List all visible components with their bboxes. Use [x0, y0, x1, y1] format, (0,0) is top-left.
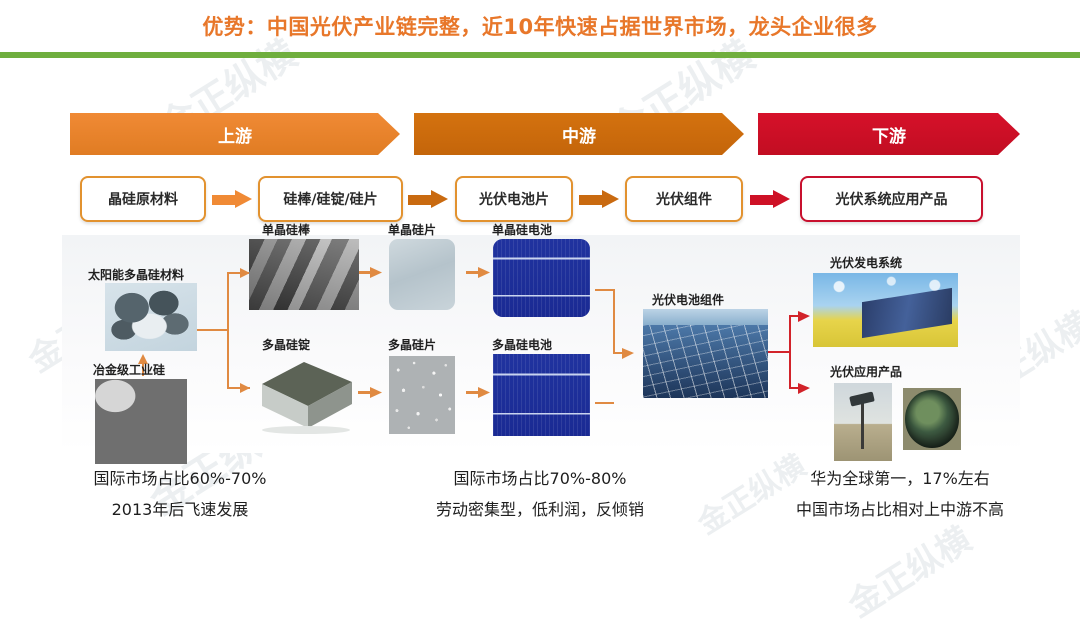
note-line: 国际市场占比60%-70%	[0, 463, 360, 494]
stage-banner-downstream: 下游	[758, 113, 1020, 155]
diagram-image-mono-ingot	[249, 239, 359, 310]
stage-banner-midstream: 中游	[414, 113, 744, 155]
diagram-label-pv-power-system: 光伏发电系统	[830, 254, 902, 271]
diagram-label-mono-cell: 单晶硅电池	[492, 221, 552, 238]
diagram-image-pv-power-system	[813, 273, 958, 347]
diagram-label-poly-cell: 多晶硅电池	[492, 336, 552, 353]
note-line: 华为全球第一，17%左右	[720, 463, 1080, 494]
diagram-image-poly-cell	[493, 354, 590, 436]
process-box-raw-material: 晶硅原材料	[80, 176, 206, 222]
process-box-cell: 光伏电池片	[455, 176, 573, 222]
diagram-image-pv-module	[643, 309, 768, 398]
diagram-label-poly-ingot: 多晶硅锭	[262, 336, 310, 353]
diagram-label-pv-application-product: 光伏应用产品	[830, 363, 902, 380]
stage-banner-label: 下游	[872, 122, 906, 147]
notes-column-midstream: 国际市场占比70%-80% 劳动密集型，低利润，反倾销	[360, 463, 720, 525]
process-box-module: 光伏组件	[625, 176, 743, 222]
diagram-image-mono-cell	[493, 239, 590, 317]
notes-column-downstream: 华为全球第一，17%左右 中国市场占比相对上中游不高	[720, 463, 1080, 525]
note-line: 国际市场占比70%-80%	[360, 463, 720, 494]
arrow-right-icon	[750, 190, 790, 209]
diagram-label-polysilicon-material: 太阳能多晶硅材料	[88, 266, 184, 283]
slide-body: 上游 中游 下游 晶硅原材料 硅棒/硅锭/硅片 光伏电池片 光伏组件 光伏系统应…	[0, 58, 1080, 607]
diagram-image-mono-wafer	[389, 239, 455, 310]
process-box-ingot-wafer: 硅棒/硅锭/硅片	[258, 176, 403, 222]
notes-column-upstream: 国际市场占比60%-70% 2013年后飞速发展	[0, 463, 360, 525]
stage-banner-label: 上游	[218, 122, 252, 147]
stage-banner-upstream: 上游	[70, 113, 400, 155]
notes-row: 国际市场占比60%-70% 2013年后飞速发展 国际市场占比70%-80% 劳…	[0, 463, 1080, 525]
diagram-image-polysilicon-material	[105, 283, 197, 351]
arrow-right-icon	[408, 190, 448, 209]
stage-banner-label: 中游	[562, 122, 596, 147]
diagram-image-pv-product	[903, 388, 961, 450]
arrow-right-icon	[212, 190, 252, 209]
diagram-image-poly-wafer	[389, 356, 455, 434]
diagram-image-poly-ingot	[248, 354, 360, 434]
note-line: 劳动密集型，低利润，反倾销	[360, 494, 720, 525]
diagram-image-street-lamp	[834, 383, 892, 461]
arrow-right-icon	[579, 190, 619, 209]
note-line: 2013年后飞速发展	[0, 494, 360, 525]
note-line: 中国市场占比相对上中游不高	[720, 494, 1080, 525]
page-title: 优势：中国光伏产业链完整，近10年快速占据世界市场，龙头企业很多	[202, 11, 877, 41]
diagram-label-pv-module: 光伏电池组件	[652, 291, 724, 308]
process-box-system-product: 光伏系统应用产品	[800, 176, 983, 222]
diagram-label-metallurgical-silicon: 冶金级工业硅	[93, 361, 165, 378]
diagram-label-poly-wafer: 多晶硅片	[388, 336, 436, 353]
slide-title-bar: 优势：中国光伏产业链完整，近10年快速占据世界市场，龙头企业很多	[0, 0, 1080, 52]
diagram-label-mono-wafer: 单晶硅片	[388, 221, 436, 238]
diagram-label-mono-ingot: 单晶硅棒	[262, 221, 310, 238]
title-divider	[0, 52, 1080, 58]
diagram-image-metallurgical-silicon	[95, 379, 187, 464]
